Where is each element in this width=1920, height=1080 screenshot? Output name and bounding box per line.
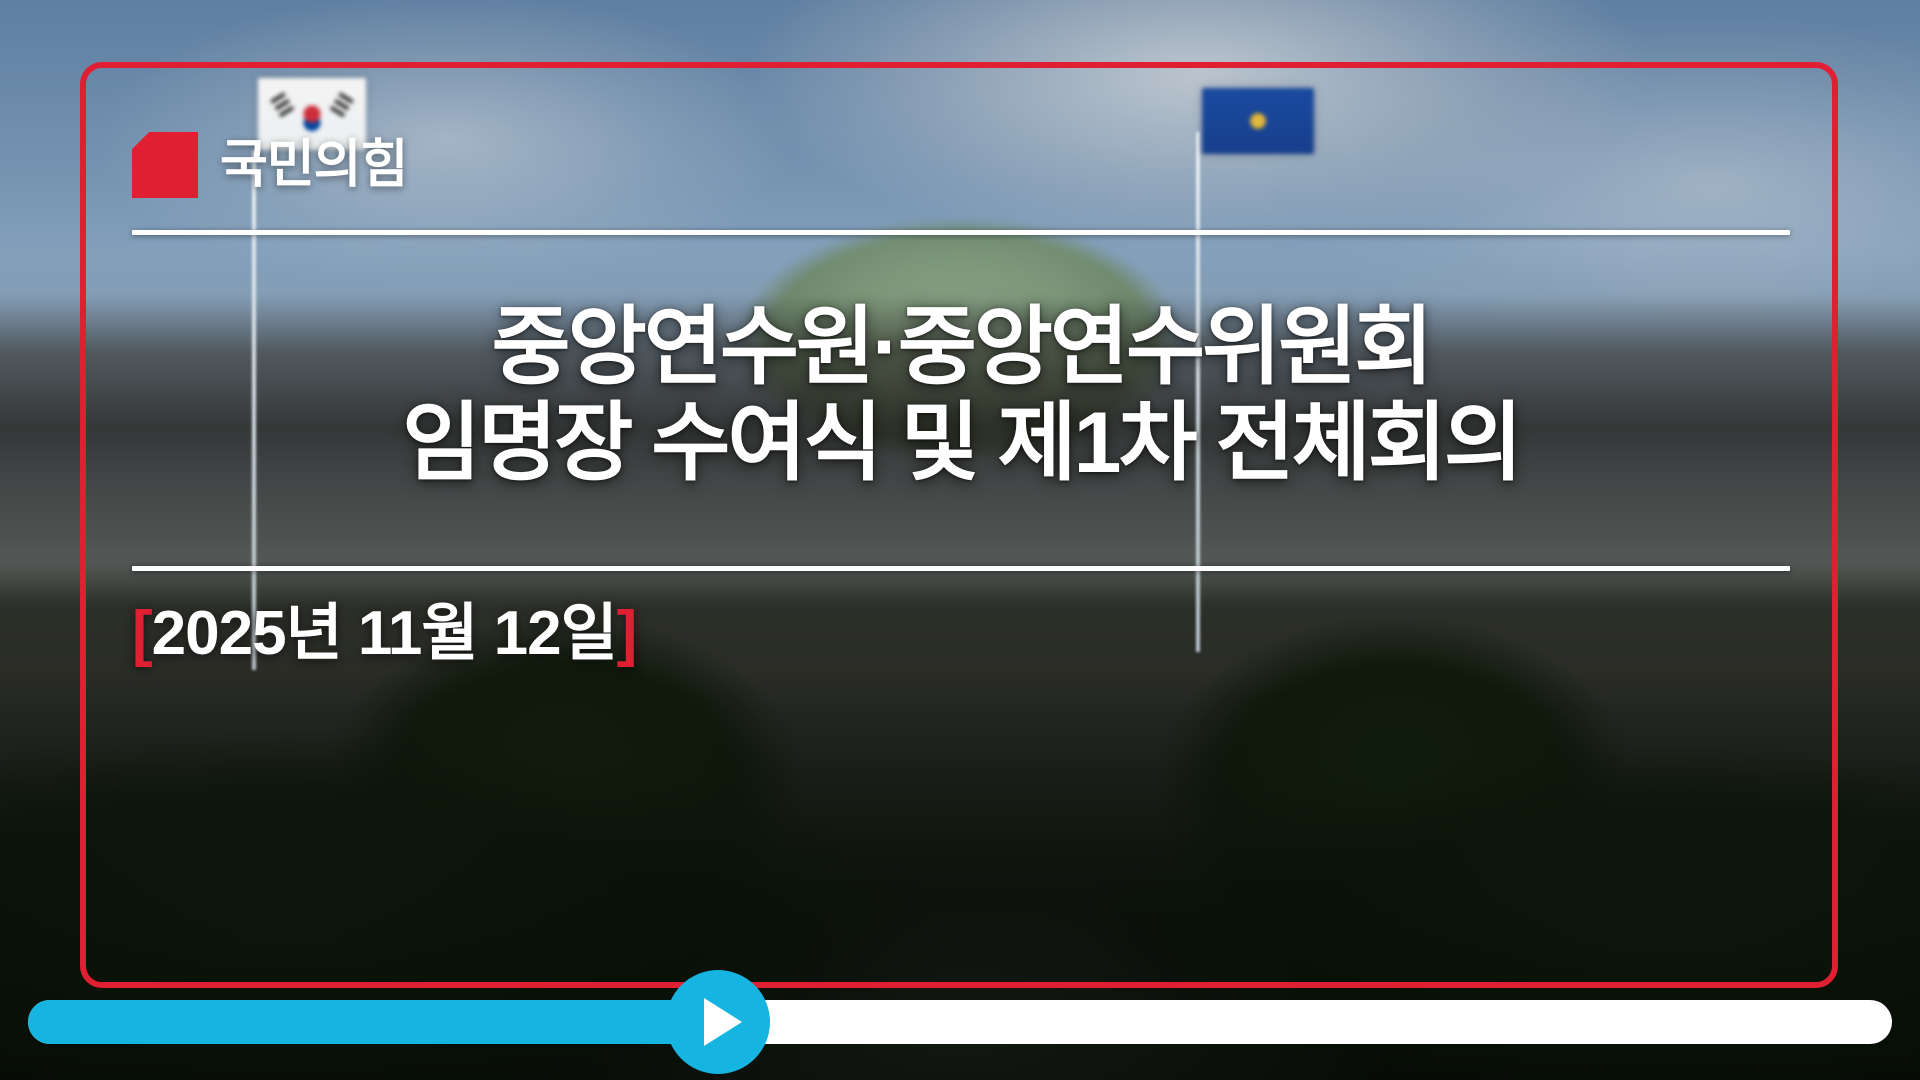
date-row: [ 2025년 11월 12일 ]: [132, 603, 1790, 665]
video-progress-bar[interactable]: [28, 1000, 1892, 1044]
party-emblem-icon: [132, 132, 198, 198]
brand-row: 국민의힘: [132, 126, 1790, 204]
play-button[interactable]: [666, 970, 770, 1074]
title-block: 중앙연수원·중앙연수위원회 임명장 수여식 및 제1차 전체회의: [132, 299, 1790, 492]
date-value: 2025년 11월 12일: [152, 603, 617, 665]
date-close-bracket: ]: [617, 603, 637, 665]
play-triangle-icon: [704, 998, 742, 1046]
title-line-1: 중앙연수원·중앙연수위원회: [132, 299, 1790, 395]
content-container: 국민의힘 중앙연수원·중앙연수위원회 임명장 수여식 및 제1차 전체회의 [ …: [132, 126, 1790, 665]
divider-top: [132, 230, 1790, 235]
date-open-bracket: [: [132, 603, 152, 665]
video-thumbnail-stage: 국민의힘 중앙연수원·중앙연수위원회 임명장 수여식 및 제1차 전체회의 [ …: [0, 0, 1920, 1080]
party-name: 국민의힘: [220, 139, 407, 191]
title-line-2: 임명장 수여식 및 제1차 전체회의: [132, 395, 1790, 491]
divider-bottom: [132, 566, 1790, 571]
video-progress-fill[interactable]: [28, 1000, 718, 1044]
title-spacer: [132, 492, 1790, 566]
